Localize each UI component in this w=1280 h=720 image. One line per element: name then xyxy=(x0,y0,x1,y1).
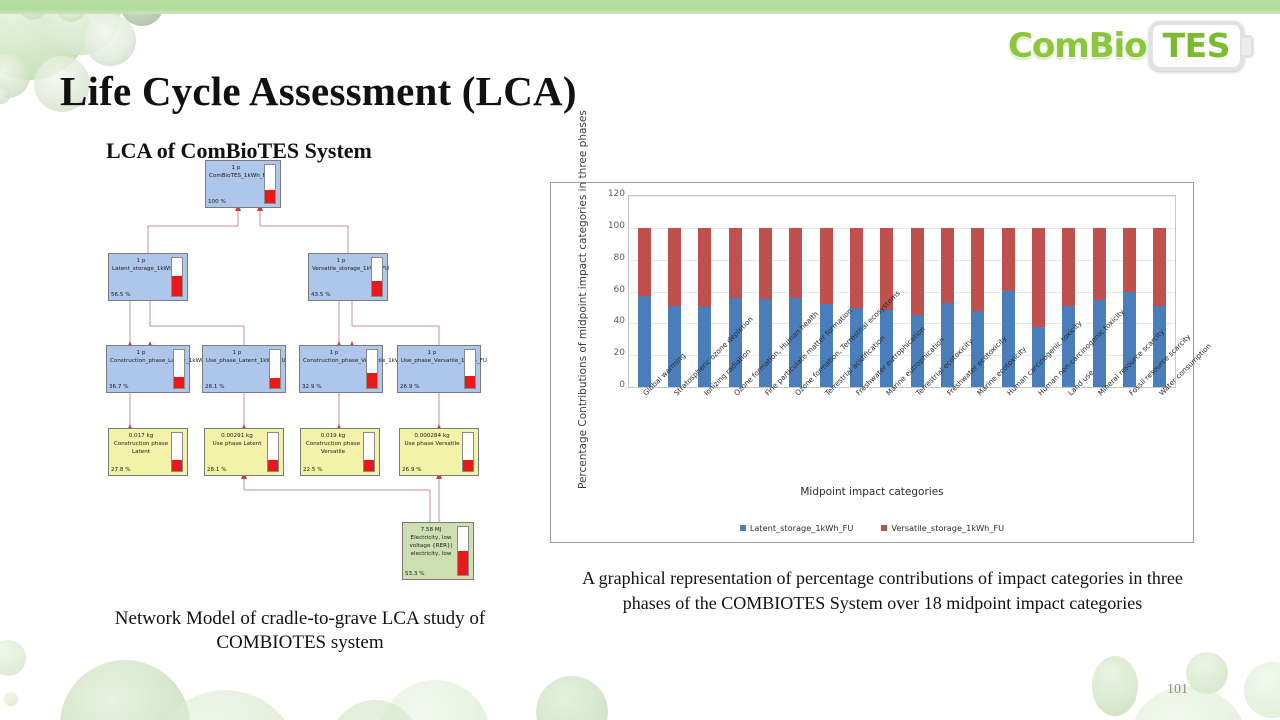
legend-swatch xyxy=(740,525,746,531)
network-node-electricity[interactable]: 7.58 MJElectricity, low voltage {RER}| e… xyxy=(402,522,474,580)
node-amount: 0.00291 kg xyxy=(208,432,266,440)
bar-segment-versatile xyxy=(1032,228,1045,327)
network-node-cp_latent_kg[interactable]: 0.017 kgConstruction phase Latent27.8 % xyxy=(108,428,188,476)
node-impact-bar xyxy=(264,164,276,204)
network-caption: Network Model of cradle-to-grave LCA stu… xyxy=(60,607,540,656)
node-impact-bar xyxy=(371,257,383,297)
bar-segment-versatile xyxy=(971,228,984,312)
chart-bar[interactable] xyxy=(638,196,651,387)
network-node-latent_storage[interactable]: 1 pLatent_storage_1kWh_FU56.5 % xyxy=(108,253,188,301)
chart-caption: A graphical representation of percentage… xyxy=(565,566,1200,616)
node-percentage: 28.1 % xyxy=(207,466,227,474)
legend-swatch xyxy=(881,525,887,531)
node-name: ComBioTES_1kWh_FU xyxy=(209,172,263,180)
node-impact-bar xyxy=(464,349,476,389)
lca-network-diagram: 1 pComBioTES_1kWh_FU100 %1 pLatent_stora… xyxy=(100,160,510,585)
node-amount: 0.017 kg xyxy=(112,432,170,440)
bar-segment-versatile xyxy=(668,228,681,306)
node-name: Construction_phase_Latent_1kWh_FU xyxy=(110,357,172,365)
node-text: 7.58 MJElectricity, low voltage {RER}| e… xyxy=(406,526,456,558)
node-impact-bar xyxy=(366,349,378,389)
node-name: Construction phase Latent xyxy=(112,440,170,456)
node-percentage: 56.5 % xyxy=(111,291,131,299)
battery-icon: TES xyxy=(1149,21,1254,71)
node-percentage: 22.5 % xyxy=(303,466,323,474)
network-node-use_versatile[interactable]: 1 pUse_phase_Versatile_1kWh_FU26.9 % xyxy=(397,345,481,393)
network-node-up_latent_kg[interactable]: 0.00291 kgUse phase Latent28.1 % xyxy=(204,428,284,476)
combiotes-logo: ComBio TES xyxy=(1008,22,1254,70)
node-name: Versatile_storage_1kWh_FU xyxy=(312,265,370,273)
node-percentage: 28.1 % xyxy=(205,383,225,391)
node-amount: 1 p xyxy=(209,164,263,172)
chart-y-tick-label: 60 xyxy=(595,285,625,295)
bar-segment-versatile xyxy=(820,228,833,304)
node-text: 0.017 kgConstruction phase Latent xyxy=(112,432,170,456)
node-impact-bar xyxy=(173,349,185,389)
chart-y-axis-title: Percentage Contributions of midpoint imp… xyxy=(555,193,585,493)
chart-y-tick-label: 0 xyxy=(595,380,625,390)
node-percentage: 100 % xyxy=(208,198,226,206)
node-percentage: 32.9 % xyxy=(302,383,322,391)
node-name: Use_phase_Versatile_1kWh_FU xyxy=(401,357,463,365)
node-amount: 1 p xyxy=(206,349,268,357)
node-percentage: 26.9 % xyxy=(402,466,422,474)
bar-segment-versatile xyxy=(911,228,924,316)
node-amount: 7.58 MJ xyxy=(406,526,456,534)
bar-segment-versatile xyxy=(1123,228,1136,292)
bar-segment-versatile xyxy=(850,228,863,308)
legend-label: Versatile_storage_1kWh_FU xyxy=(891,523,1004,533)
chart-bar[interactable] xyxy=(1093,196,1106,387)
chart-y-ticks: 020406080100120 xyxy=(593,183,625,403)
page-number: 101 xyxy=(1167,682,1188,698)
node-amount: 0.019 kg xyxy=(304,432,362,440)
legend-item[interactable]: Latent_storage_1kWh_FU xyxy=(740,523,854,533)
node-percentage: 26.9 % xyxy=(400,383,420,391)
chart-y-tick-label: 120 xyxy=(595,189,625,199)
node-impact-bar xyxy=(457,526,469,576)
node-text: 1 pUse_phase_Latent_1kWh_FU xyxy=(206,349,268,365)
node-amount: 0.000284 kg xyxy=(403,432,461,440)
node-text: 1 pLatent_storage_1kWh_FU xyxy=(112,257,170,273)
node-impact-bar xyxy=(363,432,375,472)
bar-segment-versatile xyxy=(1002,228,1015,291)
bar-segment-versatile xyxy=(729,228,742,298)
node-name: Construction_phase_Versatile_1kWh_FU xyxy=(303,357,365,365)
stacked-bar-chart: Percentage Contributions of midpoint imp… xyxy=(550,182,1194,543)
node-name: Latent_storage_1kWh_FU xyxy=(112,265,170,273)
node-name: Use phase Versatile xyxy=(403,440,461,448)
bar-segment-latent xyxy=(638,296,651,387)
node-text: 1 pComBioTES_1kWh_FU xyxy=(209,164,263,180)
bar-segment-versatile xyxy=(941,228,954,303)
node-name: Electricity, low voltage {RER}| electric… xyxy=(406,534,456,558)
network-node-use_latent[interactable]: 1 pUse_phase_Latent_1kWh_FU28.1 % xyxy=(202,345,286,393)
header-green-band xyxy=(0,0,1280,14)
network-node-up_versatile_kg[interactable]: 0.000284 kgUse phase Versatile26.9 % xyxy=(399,428,479,476)
node-name: Use phase Latent xyxy=(208,440,266,448)
node-text: 1 pConstruction_phase_Versatile_1kWh_FU xyxy=(303,349,365,365)
node-text: 0.00291 kgUse phase Latent xyxy=(208,432,266,448)
node-impact-bar xyxy=(462,432,474,472)
bar-segment-versatile xyxy=(1153,228,1166,306)
network-node-combiotes[interactable]: 1 pComBioTES_1kWh_FU100 % xyxy=(205,160,281,208)
node-impact-bar xyxy=(171,257,183,297)
bar-segment-versatile xyxy=(1062,228,1075,306)
network-node-construction_versatile[interactable]: 1 pConstruction_phase_Versatile_1kWh_FU3… xyxy=(299,345,383,393)
node-impact-bar xyxy=(269,349,281,389)
chart-y-tick-label: 80 xyxy=(595,253,625,263)
node-percentage: 53.3 % xyxy=(405,570,425,578)
node-amount: 1 p xyxy=(112,257,170,265)
node-text: 1 pVersatile_storage_1kWh_FU xyxy=(312,257,370,273)
node-impact-bar xyxy=(171,432,183,472)
bar-segment-versatile xyxy=(698,228,711,308)
bar-segment-latent xyxy=(880,310,893,387)
node-text: 0.019 kgConstruction phase Versatile xyxy=(304,432,362,456)
logo-battery-text: TES xyxy=(1163,26,1230,65)
legend-item[interactable]: Versatile_storage_1kWh_FU xyxy=(881,523,1004,533)
node-text: 0.000284 kgUse phase Versatile xyxy=(403,432,461,448)
node-amount: 1 p xyxy=(312,257,370,265)
bar-segment-versatile xyxy=(789,228,802,298)
node-percentage: 27.8 % xyxy=(111,466,131,474)
bar-segment-latent xyxy=(668,306,681,387)
node-amount: 1 p xyxy=(401,349,463,357)
network-node-cp_versatile_kg[interactable]: 0.019 kgConstruction phase Versatile22.5… xyxy=(300,428,380,476)
page-title: Life Cycle Assessment (LCA) xyxy=(60,67,577,115)
bar-segment-latent xyxy=(850,308,863,387)
bar-segment-latent xyxy=(971,311,984,387)
network-node-versatile_storage[interactable]: 1 pVersatile_storage_1kWh_FU43.5 % xyxy=(308,253,388,301)
bar-segment-versatile xyxy=(1093,228,1106,300)
chart-y-tick-label: 100 xyxy=(595,221,625,231)
legend-label: Latent_storage_1kWh_FU xyxy=(750,523,854,533)
node-amount: 1 p xyxy=(303,349,365,357)
node-name: Use_phase_Latent_1kWh_FU xyxy=(206,357,268,365)
node-impact-bar xyxy=(267,432,279,472)
node-text: 1 pUse_phase_Versatile_1kWh_FU xyxy=(401,349,463,365)
network-node-construction_latent[interactable]: 1 pConstruction_phase_Latent_1kWh_FU36.7… xyxy=(106,345,190,393)
battery-nub-icon xyxy=(1242,35,1254,58)
chart-y-tick-label: 20 xyxy=(595,348,625,358)
chart-y-tick-label: 40 xyxy=(595,316,625,326)
bar-segment-versatile xyxy=(759,228,772,300)
node-amount: 1 p xyxy=(110,349,172,357)
node-text: 1 pConstruction_phase_Latent_1kWh_FU xyxy=(110,349,172,365)
slide: Life Cycle Assessment (LCA) LCA of ComBi… xyxy=(0,0,1280,720)
chart-legend: Latent_storage_1kWh_FUVersatile_storage_… xyxy=(551,523,1193,533)
node-name: Construction phase Versatile xyxy=(304,440,362,456)
bar-segment-versatile xyxy=(638,228,651,296)
node-percentage: 43.5 % xyxy=(311,291,331,299)
logo-wordmark: ComBio xyxy=(1008,26,1147,66)
chart-x-axis-title: Midpoint impact categories xyxy=(551,486,1193,498)
node-percentage: 36.7 % xyxy=(109,383,129,391)
